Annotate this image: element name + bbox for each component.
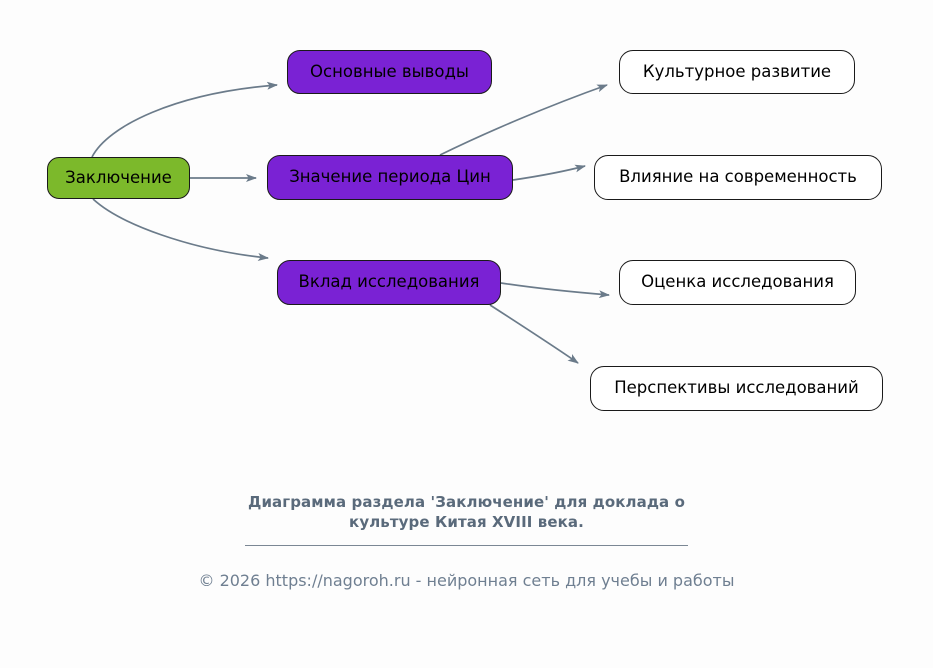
node-research-contribution-label: Вклад исследования [299, 274, 480, 291]
node-research-assessment[interactable]: Оценка исследования [619, 260, 856, 305]
node-qing-significance-label: Значение периода Цин [289, 169, 491, 186]
edge-contribution-to-research-assessment [501, 283, 609, 295]
node-root-conclusion-label: Заключение [65, 170, 172, 187]
node-root-conclusion[interactable]: Заключение [47, 157, 190, 199]
node-research-assessment-label: Оценка исследования [641, 274, 834, 291]
footer-credit: © 2026 https://nagoroh.ru - нейронная се… [0, 571, 933, 590]
edge-qing-to-modern-influence [513, 166, 585, 180]
caption-divider [245, 545, 688, 546]
diagram-canvas: Заключение Основные выводы Значение пери… [0, 0, 933, 668]
edge-qing-to-cultural-development [440, 85, 607, 155]
diagram-edges-layer [0, 0, 933, 668]
edge-root-to-research-contribution [93, 199, 268, 258]
node-research-prospects[interactable]: Перспективы исследований [590, 366, 883, 411]
caption-line-2: культуре Китая XVIII века. [0, 512, 933, 532]
node-qing-significance[interactable]: Значение периода Цин [267, 155, 513, 200]
node-research-contribution[interactable]: Вклад исследования [277, 260, 501, 305]
node-modern-influence[interactable]: Влияние на современность [594, 155, 882, 200]
node-main-conclusions[interactable]: Основные выводы [287, 50, 492, 94]
node-cultural-development-label: Культурное развитие [643, 64, 831, 81]
caption-line-1: Диаграмма раздела 'Заключение' для докла… [0, 492, 933, 512]
node-main-conclusions-label: Основные выводы [310, 64, 469, 81]
diagram-caption: Диаграмма раздела 'Заключение' для докла… [0, 492, 933, 546]
edge-contribution-to-research-prospects [490, 305, 578, 363]
node-cultural-development[interactable]: Культурное развитие [619, 50, 855, 94]
node-modern-influence-label: Влияние на современность [619, 169, 857, 186]
edge-root-to-main-conclusions [92, 85, 277, 157]
node-research-prospects-label: Перспективы исследований [614, 380, 858, 397]
